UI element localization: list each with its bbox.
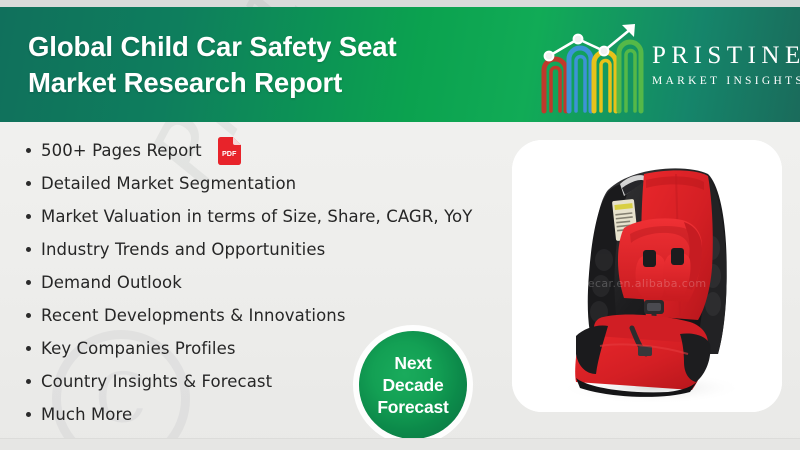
report-cover-poster: Pristine Global Child Car Safety Seat Ma… bbox=[0, 0, 800, 450]
list-item-label: Detailed Market Segmentation bbox=[41, 174, 296, 193]
badge-line-3: Forecast bbox=[377, 396, 448, 418]
list-item: Demand Outlook bbox=[26, 266, 526, 299]
brand-logo-text: PRISTINE® MARKET INSIGHTS bbox=[652, 43, 800, 87]
list-item-label: 500+ Pages Report bbox=[41, 141, 202, 160]
bullet-dot-icon bbox=[26, 379, 31, 384]
list-item-label: Recent Developments & Innovations bbox=[41, 306, 346, 325]
list-item: Market Valuation in terms of Size, Share… bbox=[26, 200, 526, 233]
bottom-strip bbox=[0, 438, 800, 450]
svg-text:PDF: PDF bbox=[222, 149, 237, 158]
brand-logo[interactable]: PRISTINE® MARKET INSIGHTS bbox=[534, 7, 800, 122]
list-item-label: Industry Trends and Opportunities bbox=[41, 240, 325, 259]
list-item-label: Country Insights & Forecast bbox=[41, 372, 272, 391]
page-title-line2: Market Research Report bbox=[28, 65, 397, 100]
bullet-dot-icon bbox=[26, 247, 31, 252]
list-item: Industry Trends and Opportunities bbox=[26, 233, 526, 266]
page-title-line1: Global Child Car Safety Seat bbox=[28, 29, 397, 64]
child-car-safety-seat-image: amecar.en.alibaba.com bbox=[512, 140, 782, 412]
pdf-icon[interactable]: PDF bbox=[218, 137, 241, 165]
bullet-dot-icon bbox=[26, 313, 31, 318]
product-image-card: amecar.en.alibaba.com bbox=[512, 140, 782, 412]
bullet-dot-icon bbox=[26, 412, 31, 417]
list-item-label: Key Companies Profiles bbox=[41, 339, 236, 358]
badge-line-1: Next bbox=[394, 352, 431, 374]
bullet-dot-icon bbox=[26, 181, 31, 186]
bullet-dot-icon bbox=[26, 148, 31, 153]
list-item-label: Much More bbox=[41, 405, 132, 424]
list-item: Recent Developments & Innovations bbox=[26, 299, 526, 332]
list-item-label: Demand Outlook bbox=[41, 273, 182, 292]
brand-tagline: MARKET INSIGHTS bbox=[652, 75, 800, 87]
top-strip bbox=[0, 0, 800, 7]
bar-chart-growth-arrow-icon bbox=[534, 15, 646, 115]
bullet-dot-icon bbox=[26, 214, 31, 219]
badge-line-2: Decade bbox=[382, 374, 443, 396]
list-item-label: Market Valuation in terms of Size, Share… bbox=[41, 207, 472, 226]
next-decade-forecast-badge[interactable]: Next Decade Forecast bbox=[359, 331, 467, 439]
bullet-dot-icon bbox=[26, 346, 31, 351]
list-item: 500+ Pages Report PDF bbox=[26, 134, 526, 167]
brand-name-text: PRISTINE bbox=[652, 42, 800, 69]
brand-name: PRISTINE® bbox=[652, 43, 800, 68]
list-item: Detailed Market Segmentation bbox=[26, 167, 526, 200]
page-title: Global Child Car Safety Seat Market Rese… bbox=[28, 29, 397, 99]
bullet-dot-icon bbox=[26, 280, 31, 285]
